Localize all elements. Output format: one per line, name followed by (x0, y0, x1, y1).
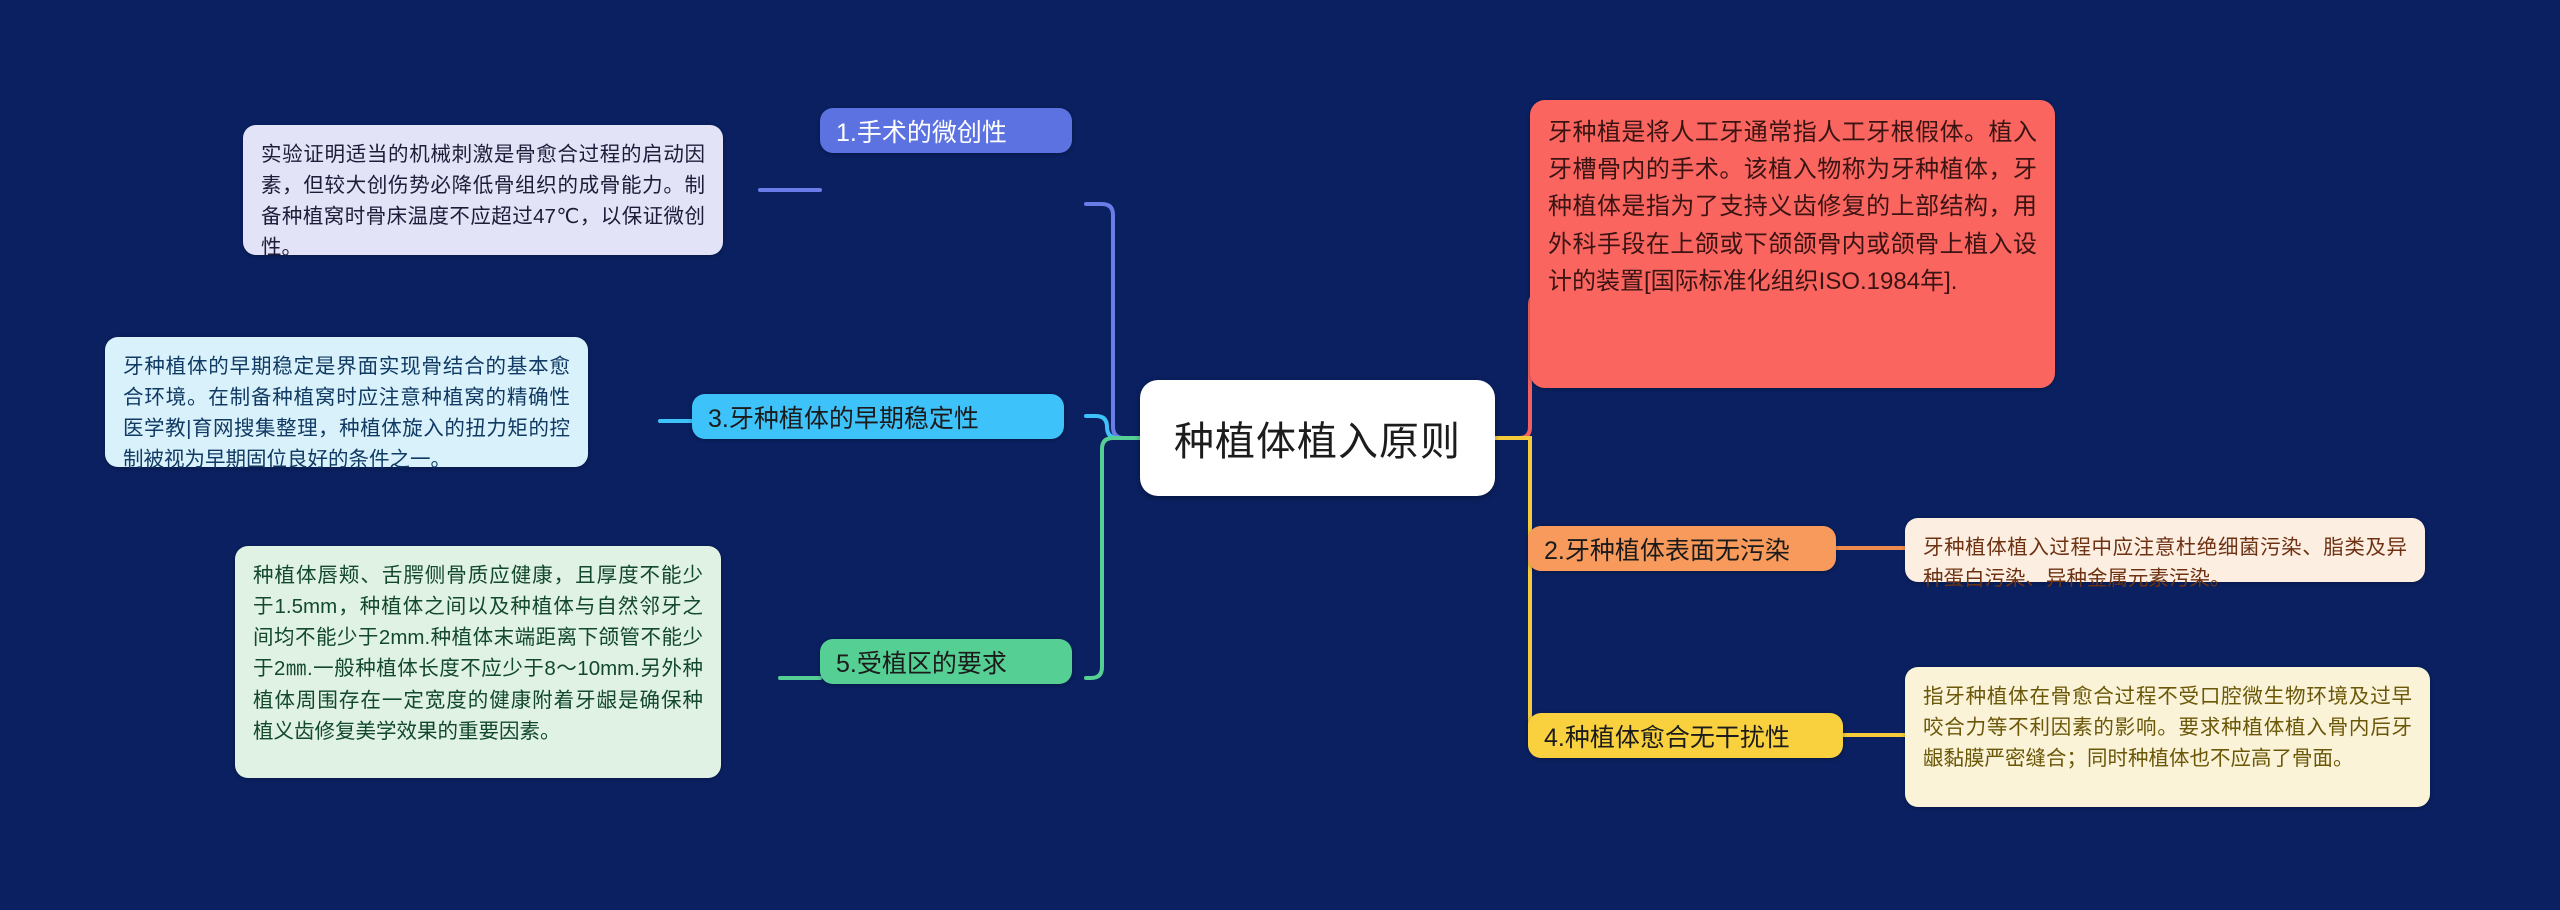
detail-card-intro[interactable]: 牙种植是将人工牙通常指人工牙根假体。植入牙槽骨内的手术。该植入物称为牙种植体，牙… (1530, 100, 2055, 388)
branch-node-4[interactable]: 4.种植体愈合无干扰性 (1528, 713, 1843, 758)
root-node-label: 种植体植入原则 (1140, 409, 1495, 467)
detail-card-2[interactable]: 牙种植体植入过程中应注意杜绝细菌污染、脂类及异种蛋白污染、异种金属元素污染。 (1905, 518, 2425, 582)
branch-node-5[interactable]: 5.受植区的要求 (820, 639, 1072, 684)
detail-card-intro-text: 牙种植是将人工牙通常指人工牙根假体。植入牙槽骨内的手术。该植入物称为牙种植体，牙… (1548, 114, 2037, 300)
branch-node-2[interactable]: 2.牙种植体表面无污染 (1528, 526, 1836, 571)
branch-node-1[interactable]: 1.手术的微创性 (820, 108, 1072, 153)
branch-node-2-label: 2.牙种植体表面无污染 (1528, 531, 1836, 567)
branch-node-3[interactable]: 3.牙种植体的早期稳定性 (692, 394, 1064, 439)
detail-card-1[interactable]: 实验证明适当的机械刺激是骨愈合过程的启动因素，但较大创伤势必降低骨组织的成骨能力… (243, 125, 723, 255)
mindmap-canvas: 种植体植入原则 实验证明适当的机械刺激是骨愈合过程的启动因素，但较大创伤势必降低… (0, 0, 2560, 910)
branch-node-1-label: 1.手术的微创性 (820, 113, 1072, 149)
detail-card-2-text: 牙种植体植入过程中应注意杜绝细菌污染、脂类及异种蛋白污染、异种金属元素污染。 (1923, 532, 2407, 594)
branch-node-5-label: 5.受植区的要求 (820, 644, 1072, 680)
connector-root-to-node1 (1086, 204, 1140, 438)
detail-card-4[interactable]: 指牙种植体在骨愈合过程不受口腔微生物环境及过早咬合力等不利因素的影响。要求种植体… (1905, 667, 2430, 807)
detail-card-5-text: 种植体唇颊、舌腭侧骨质应健康，且厚度不能少于1.5mm，种植体之间以及种植体与自… (253, 560, 703, 747)
detail-card-3[interactable]: 牙种植体的早期稳定是界面实现骨结合的基本愈合环境。在制备种植窝时应注意种植窝的精… (105, 337, 588, 467)
detail-card-4-text: 指牙种植体在骨愈合过程不受口腔微生物环境及过早咬合力等不利因素的影响。要求种植体… (1923, 681, 2412, 774)
branch-node-3-label: 3.牙种植体的早期稳定性 (692, 399, 1064, 435)
detail-card-3-text: 牙种植体的早期稳定是界面实现骨结合的基本愈合环境。在制备种植窝时应注意种植窝的精… (123, 351, 570, 476)
branch-node-4-label: 4.种植体愈合无干扰性 (1528, 718, 1843, 754)
connector-root-to-node5 (1086, 438, 1140, 678)
detail-card-5[interactable]: 种植体唇颊、舌腭侧骨质应健康，且厚度不能少于1.5mm，种植体之间以及种植体与自… (235, 546, 721, 778)
connector-root-to-node4 (1495, 438, 1557, 747)
root-node[interactable]: 种植体植入原则 (1140, 380, 1495, 496)
connector-root-to-node3 (1086, 416, 1140, 438)
detail-card-1-text: 实验证明适当的机械刺激是骨愈合过程的启动因素，但较大创伤势必降低骨组织的成骨能力… (261, 139, 705, 264)
